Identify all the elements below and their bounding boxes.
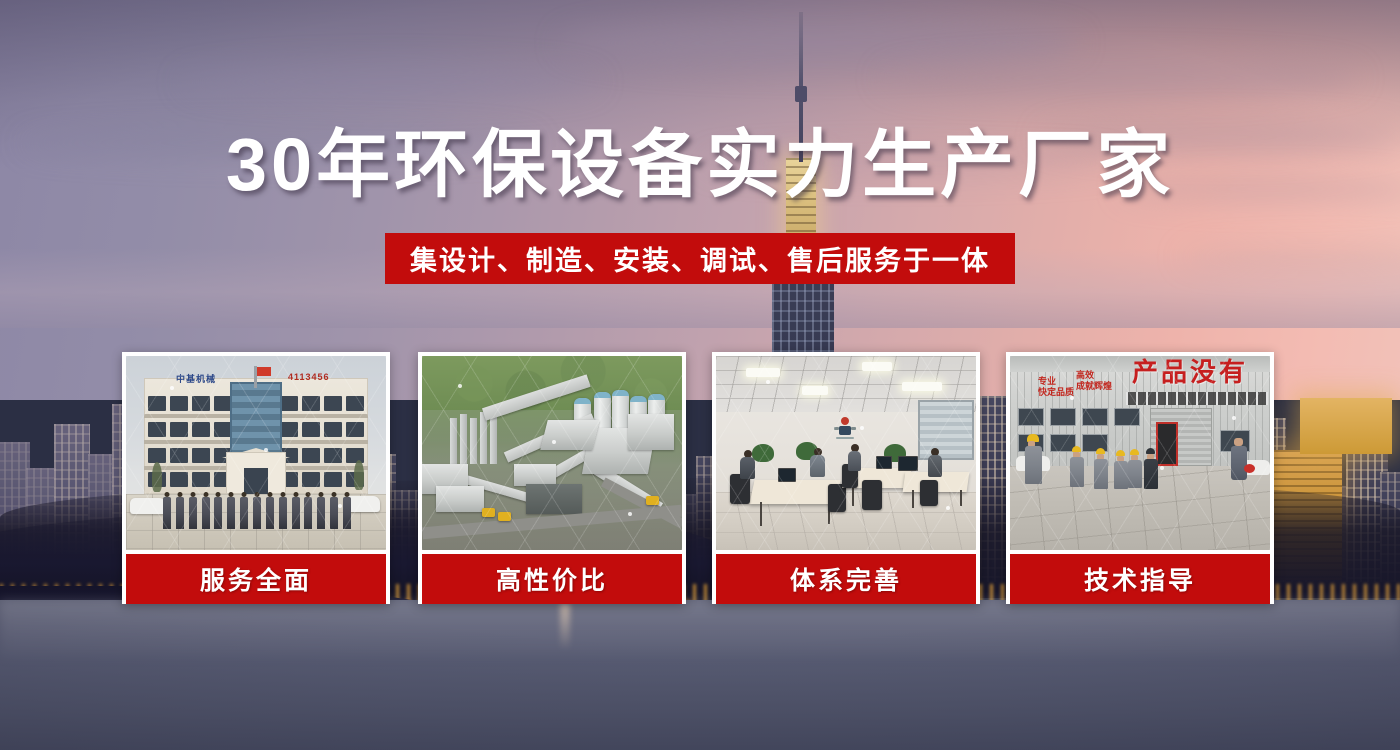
card-label: 高性价比: [422, 554, 682, 604]
subtitle-text: 集设计、制造、安装、调试、售后服务于一体: [410, 239, 990, 278]
feature-card[interactable]: 中基机械 4113456 服务全面: [122, 352, 390, 604]
building-phone-number: 4113456: [288, 372, 330, 382]
banner-stage: 30年环保设备实力生产厂家 集设计、制造、安装、调试、售后服务于一体: [0, 0, 1400, 750]
subtitle-banner: 集设计、制造、安装、调试、售后服务于一体: [385, 233, 1015, 284]
card-label: 服务全面: [126, 554, 386, 604]
card-label: 技术指导: [1010, 554, 1270, 604]
feature-card[interactable]: 产品没有 专业快定品质 高效成就辉煌: [1006, 352, 1274, 604]
card-label-text: 体系完善: [790, 561, 902, 597]
card-label-text: 高性价比: [496, 561, 608, 597]
building-company-sign: 中基机械: [176, 372, 216, 385]
card-label-text: 技术指导: [1084, 561, 1196, 597]
aerial-industrial-plant-photo: [422, 356, 682, 550]
wall-logo-icon: [828, 412, 862, 442]
feature-card[interactable]: 高性价比: [418, 352, 686, 604]
factory-workers-training-photo: 产品没有 专业快定品质 高效成就辉煌: [1010, 356, 1270, 550]
company-building-staff-photo: 中基机械 4113456: [126, 356, 386, 550]
factory-wall-headline: 产品没有: [1132, 359, 1248, 385]
feature-cards: 中基机械 4113456 服务全面: [122, 352, 1278, 604]
office-interior-staff-photo: [716, 356, 976, 550]
card-label: 体系完善: [716, 554, 976, 604]
card-label-text: 服务全面: [200, 561, 312, 597]
page-title: 30年环保设备实力生产厂家: [0, 128, 1400, 202]
feature-card[interactable]: 体系完善: [712, 352, 980, 604]
